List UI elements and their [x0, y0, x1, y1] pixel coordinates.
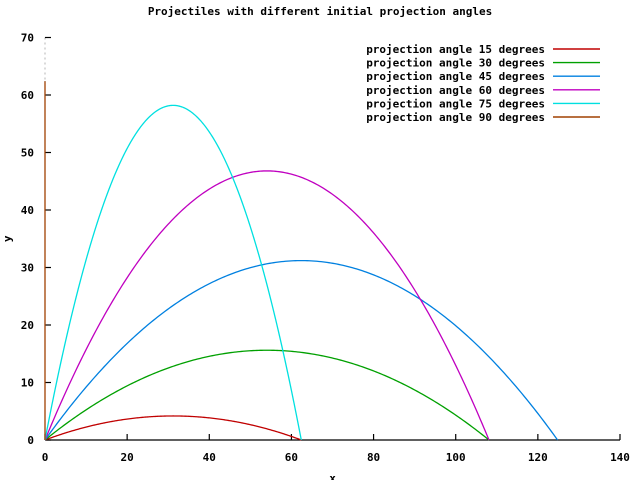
y-tick-label: 30	[21, 262, 34, 275]
y-tick-label: 10	[21, 377, 34, 390]
y-tick-label: 50	[21, 147, 34, 160]
x-tick-label: 40	[203, 451, 216, 464]
y-tick-label: 0	[27, 434, 34, 447]
x-axis-label: x	[329, 472, 336, 480]
legend-label-45-degrees: projection angle 45 degrees	[366, 70, 545, 83]
x-tick-label: 20	[121, 451, 134, 464]
axis-titles: xy	[1, 235, 336, 480]
x-tick-label: 0	[42, 451, 49, 464]
legend-label-90-degrees: projection angle 90 degrees	[366, 111, 545, 124]
series-line-60-degrees	[45, 171, 489, 440]
legend-label-15-degrees: projection angle 15 degrees	[366, 43, 545, 56]
x-tick-label: 140	[610, 451, 630, 464]
x-tick-label: 80	[367, 451, 380, 464]
y-tick-label: 20	[21, 319, 34, 332]
legend-label-75-degrees: projection angle 75 degrees	[366, 97, 545, 110]
y-tick-label: 70	[21, 32, 34, 45]
data-curves	[45, 81, 558, 440]
legend-label-60-degrees: projection angle 60 degrees	[366, 84, 545, 97]
legend-label-30-degrees: projection angle 30 degrees	[366, 57, 545, 70]
x-tick-label: 100	[446, 451, 466, 464]
x-tick-label: 120	[528, 451, 548, 464]
y-axis-label: y	[1, 235, 14, 242]
series-line-30-degrees	[45, 350, 489, 440]
series-line-15-degrees	[45, 416, 301, 440]
y-tick-label: 60	[21, 89, 34, 102]
legend: projection angle 15 degreesprojection an…	[366, 43, 600, 124]
plot-canvas: Projectiles with different initial proje…	[0, 0, 640, 480]
series-line-45-degrees	[45, 261, 558, 440]
chart-svg: 010203040506070020406080100120140 xy pro…	[0, 0, 640, 480]
y-tick-label: 40	[21, 204, 34, 217]
x-tick-label: 60	[285, 451, 298, 464]
